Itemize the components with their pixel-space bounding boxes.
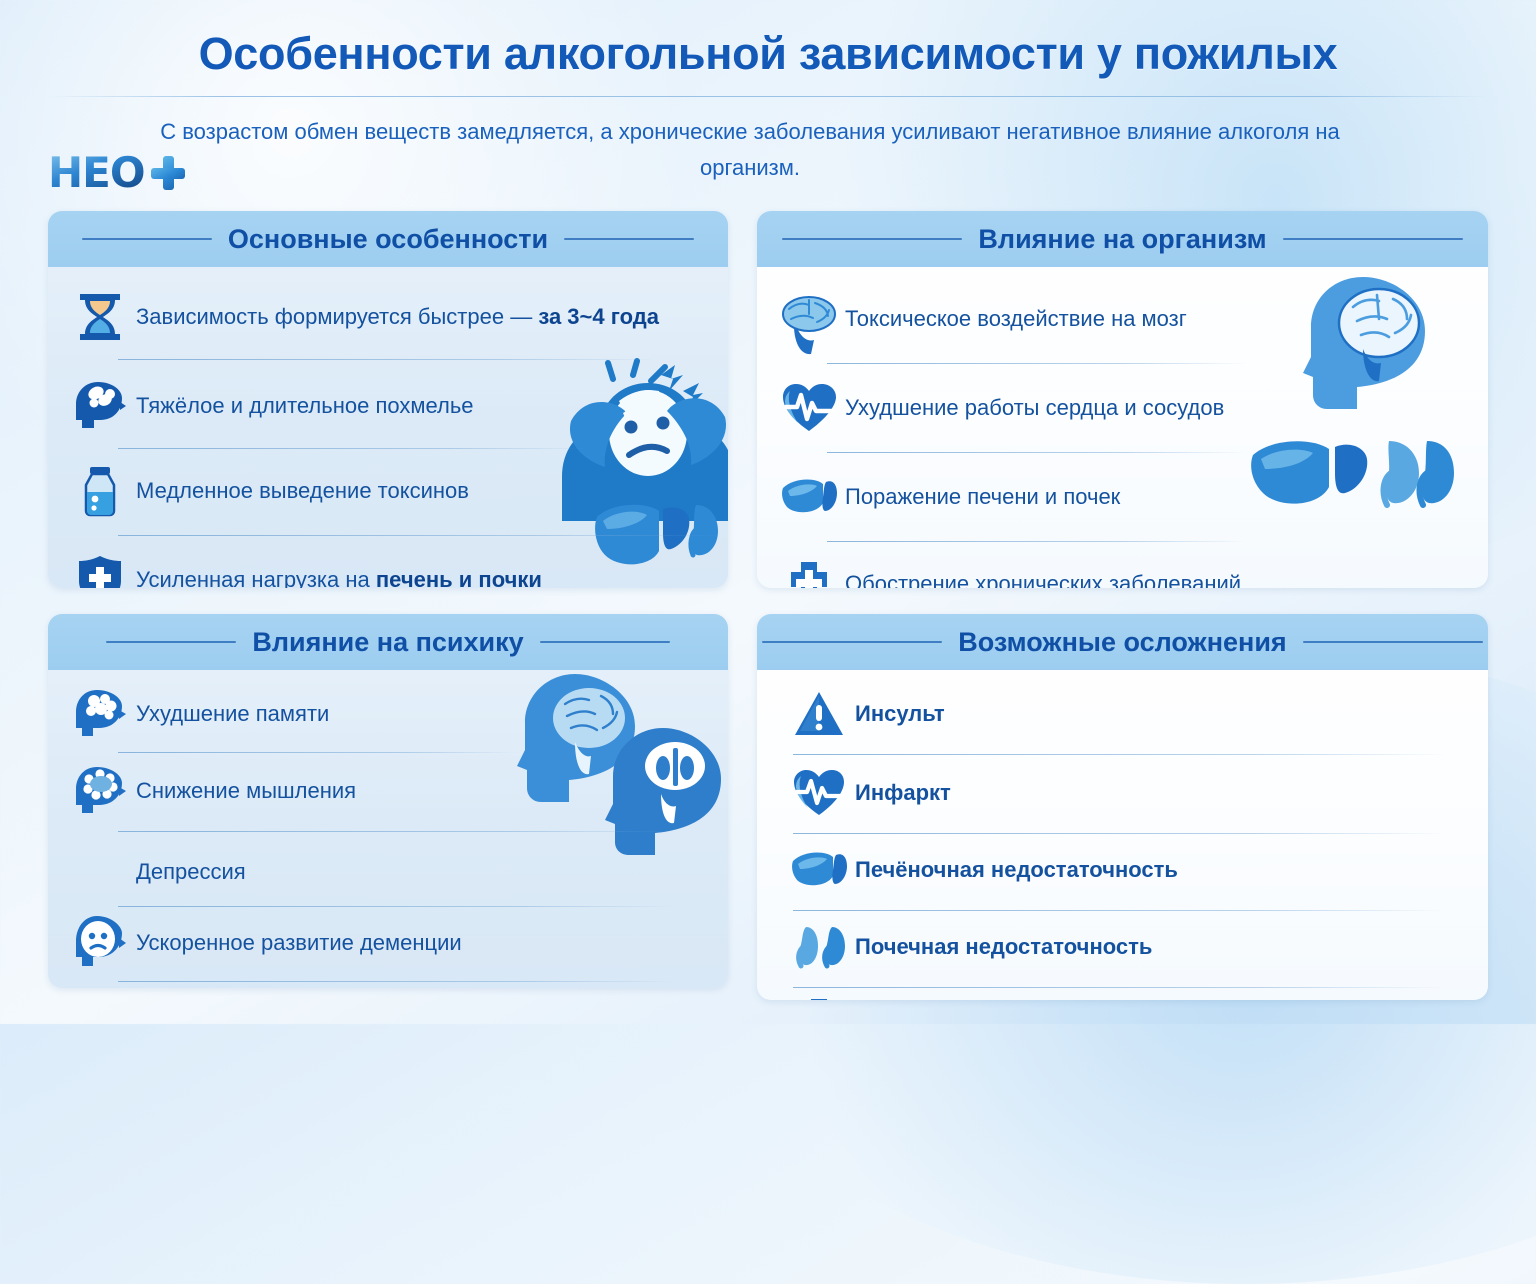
shield-cross-icon [72, 552, 128, 588]
header-rule-left [106, 641, 236, 643]
list-item[interactable]: Почечная недостаточность [757, 919, 1488, 975]
list-item[interactable]: Ухудшение работы сердца и сосудов [757, 380, 1488, 436]
header-rule-left [762, 641, 942, 643]
medical-cross-icon [781, 556, 837, 588]
list-item[interactable]: Токсическое воздействие на мозг [757, 291, 1488, 347]
list-item[interactable]: Инсульт [757, 686, 1488, 742]
hourglass-icon [72, 289, 128, 345]
liver-icon [791, 842, 847, 898]
list-item-label: Ухудшение работы сердца и сосудов [845, 395, 1224, 421]
header-rule-right [1303, 641, 1483, 643]
list-divider [827, 452, 1247, 453]
list-item-label: Медленное выведение токсинов [136, 478, 469, 504]
card-item-list: Ухудшение памяти [48, 686, 728, 988]
head-gear-brain-icon [72, 763, 128, 819]
card-title: Влияние на психику [252, 627, 523, 658]
card-item-list: Инсульт Инфаркт [757, 686, 1488, 1000]
list-divider [118, 448, 588, 449]
list-item-label: Снижение мышления [136, 778, 356, 804]
card-title: Возможные осложнения [958, 627, 1286, 658]
list-item-label: Зависимость формируется быстрее — за 3~4… [136, 304, 659, 330]
list-item[interactable]: Усиленная нагрузка на печень и почки [48, 552, 728, 588]
plus-icon [151, 156, 185, 190]
header-rule-right [540, 641, 670, 643]
list-divider [793, 754, 1448, 755]
card-header: Основные особенности [48, 211, 728, 267]
page-subtitle: С возрастом обмен веществ замедляется, а… [160, 114, 1340, 186]
header-rule-left [82, 238, 212, 240]
head-memory-icon [72, 686, 128, 742]
list-item[interactable]: Тяжёлое и длительное похмелье [48, 378, 728, 434]
list-item[interactable]: Ускоренное развитие деменции [48, 915, 728, 971]
head-brain-icon [72, 378, 128, 434]
list-item-label: Депрессия [136, 859, 246, 885]
infographic-page: Особенности алкогольной зависимости у по… [0, 0, 1536, 1024]
header-rule-left [782, 238, 962, 240]
list-item[interactable]: Медленное выведение токсинов [48, 463, 728, 519]
card-vliyanie-na-psihiku: Влияние на психику [48, 614, 728, 988]
list-divider [793, 987, 1448, 988]
card-vliyanie-na-organizm: Влияние на организм [757, 211, 1488, 588]
list-item[interactable]: Печёночная недостаточность [757, 842, 1488, 898]
title-divider [48, 96, 1488, 97]
list-item-label: Усиленная нагрузка на печень и почки [136, 567, 542, 588]
list-divider [118, 359, 658, 360]
flask-icon [72, 463, 128, 519]
card-item-list: Токсическое воздействие на мозг Ухудшени… [757, 291, 1488, 588]
head-sad-face-icon [72, 915, 128, 971]
list-item-label: Почечная недостаточность [855, 934, 1152, 960]
list-item-label: Ухудшение памяти [136, 701, 329, 727]
card-header: Возможные осложнения [757, 614, 1488, 670]
list-divider [118, 831, 678, 832]
heart-pulse-icon [781, 380, 837, 436]
list-item[interactable]: Инфаркт [757, 765, 1488, 821]
kidneys-icon [791, 919, 847, 975]
header-rule-right [1283, 238, 1463, 240]
list-divider [793, 833, 1448, 834]
list-item-label: Поражение печени и почек [845, 484, 1120, 510]
list-divider [793, 910, 1448, 911]
list-item[interactable]: Ухудшение качества жизни [757, 994, 1488, 1000]
list-item-label: Ускоренное развитие деменции [136, 930, 462, 956]
list-divider [118, 535, 718, 536]
brand-logo: НЕО [48, 152, 185, 194]
list-divider [118, 906, 678, 907]
card-header: Влияние на организм [757, 211, 1488, 267]
list-item-label: Обострение хронических заболеваний [845, 571, 1241, 588]
list-item-label: Печёночная недостаточность [855, 857, 1178, 883]
list-item-label: Инсульт [855, 701, 945, 727]
liver-icon [781, 469, 837, 525]
page-title: Особенности алкогольной зависимости у по… [0, 28, 1536, 80]
card-header: Влияние на психику [48, 614, 728, 670]
heart-pulse-icon [791, 765, 847, 821]
header-rule-right [564, 238, 694, 240]
logo-text: НЕО [48, 152, 145, 194]
list-divider [827, 363, 1247, 364]
card-osnovnye-osobennosti: Основные особенности [48, 211, 728, 588]
brain-icon [781, 291, 837, 347]
list-item-label: Инфаркт [855, 780, 951, 806]
down-arrow-icon [791, 994, 847, 1000]
list-item[interactable]: Поражение печени и почек [757, 469, 1488, 525]
card-item-list: Зависимость формируется быстрее — за 3~4… [48, 289, 728, 588]
list-item[interactable]: Снижение мышления [48, 763, 728, 819]
warning-triangle-icon [791, 686, 847, 742]
list-item[interactable]: Обострение хронических заболеваний [757, 556, 1488, 588]
list-divider [118, 752, 518, 753]
list-item[interactable]: Зависимость формируется быстрее — за 3~4… [48, 289, 728, 345]
card-vozmozhnye-oslozhneniya: Возможные осложнения Инсульт [757, 614, 1488, 1000]
card-title: Влияние на организм [978, 224, 1266, 255]
list-item-label: Тяжёлое и длительное похмелье [136, 393, 474, 419]
card-title: Основные особенности [228, 224, 548, 255]
list-item[interactable]: Депрессия [48, 844, 728, 900]
list-item-label: Токсическое воздействие на мозг [845, 306, 1187, 332]
list-divider [118, 981, 678, 982]
list-divider [827, 541, 1247, 542]
list-item[interactable]: Ухудшение памяти [48, 686, 728, 742]
